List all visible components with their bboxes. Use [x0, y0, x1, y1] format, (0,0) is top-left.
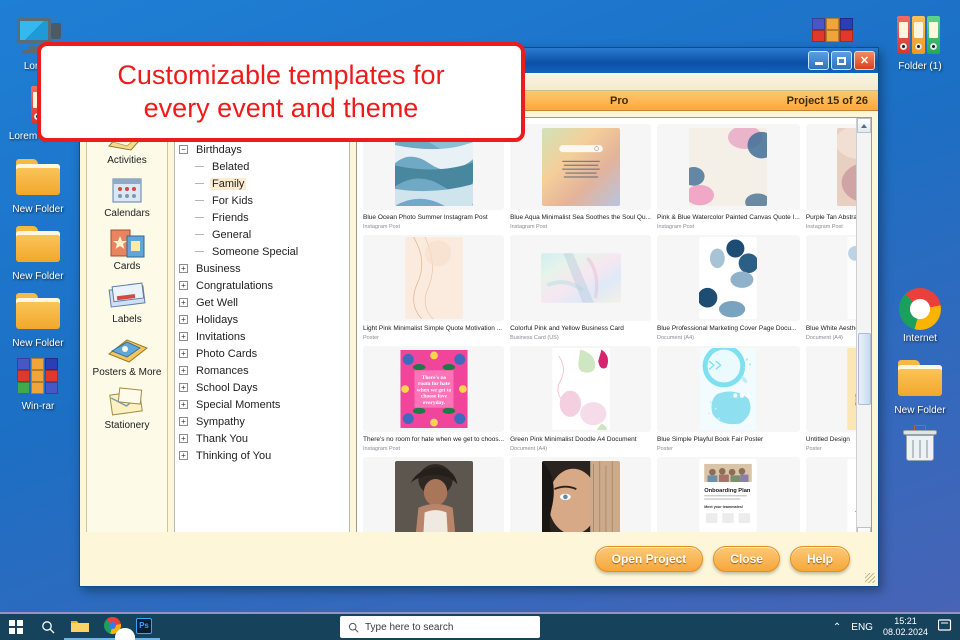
template-thumbnail[interactable] — [363, 457, 504, 542]
desktop-icon-new-folder-1[interactable]: New Folder — [2, 155, 74, 216]
tree-node-invitations[interactable]: +Invitations — [179, 328, 345, 345]
template-artwork-cyan-playful — [699, 348, 757, 430]
template-title: Blue White Aesthetic Cover Diary Documen… — [806, 325, 856, 333]
template-title: Untitled Design — [806, 436, 856, 444]
template-thumbnail-frame — [363, 457, 504, 542]
desktop-icon-new-folder-right[interactable]: New Folder — [884, 356, 956, 417]
svg-text:Meet your teammates!: Meet your teammates! — [705, 505, 744, 509]
template-artwork-holographic — [541, 253, 621, 303]
template-thumbnail[interactable]: Onboarding PlanMeet your teammates! — [657, 457, 800, 542]
tree-node-label: Thank You — [194, 433, 250, 445]
desktop-icon-folder-1[interactable]: Folder (1) — [884, 16, 956, 73]
expand-toggle-icon[interactable]: + — [179, 383, 188, 392]
tree-connector-icon — [195, 234, 204, 235]
template-title: Purple Tan Abstract Watercolor Backgroun… — [806, 214, 856, 222]
template-thumbnail[interactable]: Blue Professional Marketing Cover Page D… — [657, 235, 800, 342]
template-thumbnail-frame — [363, 235, 504, 321]
folder-icon — [15, 293, 61, 335]
windows-start-icon[interactable] — [0, 613, 32, 640]
template-artwork-onboarding-plan: Onboarding PlanMeet your teammates! — [699, 459, 757, 541]
tree-node-label: School Days — [194, 382, 260, 394]
tree-node-label: Family — [210, 178, 246, 190]
callout-line-2: every event and theme — [117, 92, 444, 125]
tree-connector-icon — [195, 200, 204, 201]
template-artwork-blue-leaf — [847, 237, 856, 319]
window-body: Activities Calendars — [80, 111, 878, 543]
collapse-toggle-icon[interactable]: − — [179, 145, 188, 154]
tree-node-belated[interactable]: Belated — [179, 158, 345, 175]
template-thumbnail-frame — [510, 124, 651, 210]
close-button[interactable]: Close — [713, 546, 780, 572]
language-indicator[interactable]: ENG — [851, 622, 873, 633]
sidebar-item-cards[interactable]: Cards — [87, 226, 167, 272]
template-type: Poster — [363, 334, 504, 342]
desktop-icon-internet[interactable]: Internet — [884, 288, 956, 345]
svg-text:room for hate: room for hate — [418, 381, 450, 387]
folder-icon — [15, 226, 61, 268]
tree-node-label: Photo Cards — [194, 348, 259, 360]
tree-node-school-days[interactable]: +School Days — [179, 379, 345, 396]
template-type: Instagram Post — [510, 223, 651, 231]
template-title: Colorful Pink and Yellow Business Card — [510, 325, 651, 333]
winrar-icon — [15, 356, 61, 398]
template-artwork-portrait-woman-2 — [542, 461, 620, 539]
tree-connector-icon — [195, 166, 204, 167]
category-sidebar: Activities Calendars — [86, 117, 168, 543]
template-type: Instagram Post — [657, 223, 800, 231]
tree-node-for-kids[interactable]: For Kids — [179, 192, 345, 209]
tree-node-label: General — [210, 229, 253, 241]
sidebar-item-label: Labels — [87, 314, 167, 325]
recycle-bin-icon — [897, 424, 943, 466]
callout-line-1: Customizable templates for — [117, 59, 444, 92]
tree-node-special-moments[interactable]: +Special Moments — [179, 396, 345, 413]
tree-node-label: Get Well — [194, 297, 240, 309]
tree-connector-icon — [195, 183, 204, 184]
tree-node-label: Romances — [194, 365, 251, 377]
grid-vertical-scrollbar[interactable] — [856, 118, 871, 542]
search-icon[interactable] — [32, 613, 64, 640]
help-button[interactable]: Help — [790, 546, 850, 572]
template-artwork-blue-blobs — [699, 237, 757, 319]
tree-node-label: Someone Special — [210, 246, 300, 258]
tree-node-label: Business — [194, 263, 243, 275]
folder-icon — [15, 159, 61, 201]
sidebar-item-label: Stationery — [87, 420, 167, 431]
chrome-icon[interactable] — [96, 613, 128, 640]
expand-toggle-icon[interactable]: + — [179, 451, 188, 460]
labels-icon — [105, 279, 149, 313]
template-type: Instagram Post — [363, 445, 504, 453]
clock[interactable]: 15:21 08.02.2024 — [883, 616, 928, 638]
expand-toggle-icon[interactable]: + — [179, 315, 188, 324]
tree-node-family[interactable]: Family — [179, 175, 345, 192]
template-title: Blue Simple Playful Book Fair Poster — [657, 436, 800, 444]
sidebar-item-label: Activities — [87, 155, 167, 166]
tree-node-label: Special Moments — [194, 399, 282, 411]
template-type: Instagram Post — [363, 223, 504, 231]
photoshop-icon-label: Ps — [136, 618, 152, 634]
posters-icon — [105, 332, 149, 366]
tree-connector-icon — [195, 217, 204, 218]
close-button[interactable]: ✕ — [854, 51, 875, 70]
windows-taskbar: Ps Type here to search ⌃ ENG 15:21 08.02… — [0, 612, 960, 640]
category-tree-panel[interactable]: +Announcements−BirthdaysBelatedFamilyFor… — [174, 117, 350, 543]
template-artwork-light-pink-poster — [405, 237, 463, 319]
chrome-icon — [897, 288, 943, 330]
desktop-icon-label: New Folder — [2, 204, 74, 216]
tree-node-congratulations[interactable]: +Congratulations — [179, 277, 345, 294]
expand-toggle-icon[interactable]: + — [179, 349, 188, 358]
sidebar-item-label: Cards — [87, 261, 167, 272]
template-title: Blue Ocean Photo Summer Instagram Post — [363, 214, 504, 222]
stationery-icon — [105, 385, 149, 419]
desktop-icon-label: Win-rar — [2, 401, 74, 413]
template-thumbnail[interactable]: Pink & Blue Watercolor Painted Canvas Qu… — [657, 124, 800, 231]
expand-toggle-icon[interactable]: + — [179, 434, 188, 443]
template-thumbnail-frame — [657, 346, 800, 432]
sidebar-item-label: Calendars — [87, 208, 167, 219]
template-grid: Blue Ocean Photo Summer Instagram PostIn… — [363, 124, 856, 542]
tree-node-birthdays[interactable]: −Birthdays — [179, 141, 345, 158]
template-type: Document (A4) — [806, 334, 856, 342]
folder-icon — [897, 360, 943, 402]
template-artwork-signature: BEAUTY VILLA — [847, 459, 856, 541]
tree-node-romances[interactable]: +Romances — [179, 362, 345, 379]
template-thumbnail-frame: BOOKFAIRSALE — [806, 346, 856, 432]
template-thumbnail-frame — [510, 457, 651, 542]
template-thumbnail[interactable]: There's noroom for hatewhen we get tocho… — [363, 346, 504, 453]
template-thumbnail[interactable]: Blue Aqua Minimalist Sea Soothes the Sou… — [510, 124, 651, 231]
template-grid-scroll: Blue Ocean Photo Summer Instagram PostIn… — [357, 118, 856, 542]
tree-node-label: Birthdays — [194, 144, 244, 156]
desktop-icon-label: Internet — [884, 333, 956, 345]
open-project-button[interactable]: Open Project — [595, 546, 704, 572]
file-explorer-icon[interactable] — [64, 613, 96, 640]
template-artwork-gradient-quote — [542, 128, 620, 206]
tree-node-thank-you[interactable]: +Thank You — [179, 430, 345, 447]
tree-node-thinking-of-you[interactable]: +Thinking of You — [179, 447, 345, 464]
template-artwork-portrait-woman-1 — [395, 461, 473, 539]
tree-connector-icon — [195, 251, 204, 252]
tree-node-someone-special[interactable]: Someone Special — [179, 243, 345, 260]
desktop-icon-label: Folder (1) — [884, 61, 956, 73]
tree-node-label: Congratulations — [194, 280, 275, 292]
desktop-icon-label: New Folder — [2, 271, 74, 283]
template-thumbnail[interactable]: Blue White Aesthetic Cover Diary Documen… — [806, 235, 856, 342]
sidebar-item-stationery[interactable]: Stationery — [87, 385, 167, 431]
search-input[interactable]: Type here to search — [340, 616, 540, 638]
template-type: Document (A4) — [510, 445, 651, 453]
template-thumbnail[interactable] — [510, 457, 651, 542]
template-type: Instagram Post — [806, 223, 856, 231]
search-placeholder: Type here to search — [365, 622, 453, 633]
project-count-label: Project 15 of 26 — [787, 95, 868, 107]
template-title: Green Pink Minimalist Doodle A4 Document — [510, 436, 651, 444]
template-type: Business Card (US) — [510, 334, 651, 342]
tree-node-label: Friends — [210, 212, 251, 224]
template-thumbnail[interactable]: Purple Tan Abstract Watercolor Backgroun… — [806, 124, 856, 231]
desktop-icon-label: New Folder — [884, 405, 956, 417]
expand-toggle-icon[interactable]: + — [179, 298, 188, 307]
desktop-icon-label: New Folder — [2, 338, 74, 350]
resize-grip[interactable] — [865, 573, 875, 583]
template-type: Document (A4) — [657, 334, 800, 342]
calendars-icon — [105, 173, 149, 207]
template-thumbnail[interactable]: BOOKFAIRSALEUntitled DesignPoster — [806, 346, 856, 453]
minimize-button[interactable] — [808, 51, 829, 70]
template-thumbnail-frame — [657, 124, 800, 210]
expand-toggle-icon[interactable]: + — [179, 417, 188, 426]
sidebar-item-label: Posters & More — [87, 367, 167, 378]
svg-text:when we get to: when we get to — [416, 387, 451, 393]
desktop-icon-recycle-bin[interactable] — [884, 424, 956, 469]
scrollbar-thumb[interactable] — [858, 333, 871, 405]
template-thumbnail-frame — [657, 235, 800, 321]
template-title: Light Pink Minimalist Simple Quote Motiv… — [363, 325, 504, 333]
tree-node-label: For Kids — [210, 195, 255, 207]
cards-icon — [105, 226, 149, 260]
template-artwork-book-fair: BOOKFAIRSALE — [847, 348, 856, 430]
template-title: Blue Professional Marketing Cover Page D… — [657, 325, 800, 333]
desktop-icon-winrar[interactable]: Win-rar — [2, 356, 74, 413]
callout-banner: Customizable templates for every event a… — [37, 42, 525, 142]
system-tray: ⌃ ENG 15:21 08.02.2024 — [833, 616, 960, 638]
expand-toggle-icon[interactable]: + — [179, 366, 188, 375]
template-type: Poster — [657, 445, 800, 453]
sidebar-item-calendars[interactable]: Calendars — [87, 173, 167, 219]
tree-node-holidays[interactable]: +Holidays — [179, 311, 345, 328]
template-thumbnail[interactable]: Colorful Pink and Yellow Business CardBu… — [510, 235, 651, 342]
template-thumbnail[interactable]: BEAUTY VILLA — [806, 457, 856, 542]
pro-label: Pro — [610, 95, 628, 107]
search-icon — [348, 622, 359, 633]
template-thumbnail[interactable]: Blue Simple Playful Book Fair PosterPost… — [657, 346, 800, 453]
tree-node-photo-cards[interactable]: +Photo Cards — [179, 345, 345, 362]
template-artwork-purple-tan — [837, 128, 856, 206]
svg-text:everyday.: everyday. — [422, 400, 445, 406]
tree-node-label: Belated — [210, 161, 251, 173]
chevron-up-icon[interactable]: ⌃ — [833, 622, 841, 633]
template-title: Pink & Blue Watercolor Painted Canvas Qu… — [657, 214, 800, 222]
template-artwork-green-pink-doodle — [552, 348, 610, 430]
template-artwork-pink-floral: There's noroom for hatewhen we get tocho… — [395, 350, 473, 428]
template-title: Blue Aqua Minimalist Sea Soothes the Sou… — [510, 214, 651, 222]
template-thumbnail-frame: Onboarding PlanMeet your teammates! — [657, 457, 800, 542]
template-thumbnail-frame — [806, 235, 856, 321]
tree-node-friends[interactable]: Friends — [179, 209, 345, 226]
tree-node-sympathy[interactable]: +Sympathy — [179, 413, 345, 430]
tree-node-business[interactable]: +Business — [179, 260, 345, 277]
sidebar-item-labels[interactable]: Labels — [87, 279, 167, 325]
expand-toggle-icon[interactable]: + — [179, 264, 188, 273]
template-thumbnail-frame: BEAUTY VILLA — [806, 457, 856, 542]
clock-time: 15:21 — [883, 616, 928, 627]
tree-node-label: Invitations — [194, 331, 248, 343]
template-thumbnail-frame — [510, 346, 651, 432]
template-artwork-watercolor-pink-blue — [689, 128, 767, 206]
template-thumbnail-frame — [510, 235, 651, 321]
clock-date: 08.02.2024 — [883, 627, 928, 638]
template-grid-pane: Blue Ocean Photo Summer Instagram PostIn… — [356, 117, 872, 543]
expand-toggle-icon[interactable]: + — [179, 332, 188, 341]
expand-toggle-icon[interactable]: + — [179, 281, 188, 290]
template-thumbnail[interactable]: Light Pink Minimalist Simple Quote Motiv… — [363, 235, 504, 342]
expand-toggle-icon[interactable]: + — [179, 400, 188, 409]
desktop-background: Lorem Lorem Ipsum New Folder New Folder … — [0, 0, 960, 612]
template-thumbnail-frame — [806, 124, 856, 210]
desktop-icon-new-folder-3[interactable]: New Folder — [2, 289, 74, 350]
action-center-icon[interactable] — [938, 619, 952, 635]
tree-node-label: Sympathy — [194, 416, 247, 428]
template-type: Poster — [806, 445, 856, 453]
desktop-icon-new-folder-2[interactable]: New Folder — [2, 222, 74, 283]
binders-icon — [897, 16, 943, 58]
svg-text:choose love: choose love — [420, 394, 447, 400]
svg-text:There's no: There's no — [421, 375, 446, 381]
sidebar-item-posters-more[interactable]: Posters & More — [87, 332, 167, 378]
svg-text:Onboarding Plan: Onboarding Plan — [705, 488, 752, 494]
tree-node-label: Holidays — [194, 314, 240, 326]
template-title: There's no room for hate when we get to … — [363, 436, 504, 444]
maximize-button[interactable] — [831, 51, 852, 70]
tree-node-get-well[interactable]: +Get Well — [179, 294, 345, 311]
template-thumbnail-frame: There's noroom for hatewhen we get tocho… — [363, 346, 504, 432]
tree-node-label: Thinking of You — [194, 450, 273, 462]
scroll-up-button[interactable] — [857, 118, 871, 133]
template-thumbnail[interactable]: Green Pink Minimalist Doodle A4 Document… — [510, 346, 651, 453]
window-footer: Open Project Close Help — [80, 532, 878, 586]
tree-node-general[interactable]: General — [179, 226, 345, 243]
